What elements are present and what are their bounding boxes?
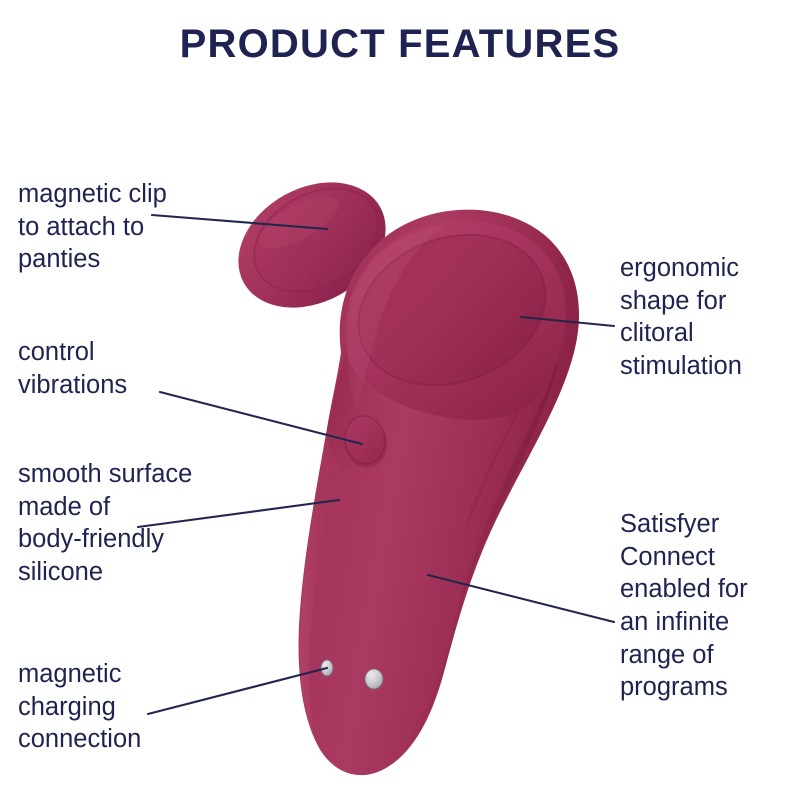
main-body-part xyxy=(299,210,579,776)
callout-label-control-vibrations: control vibrations xyxy=(18,336,127,401)
charging-contact-right xyxy=(365,669,383,689)
callout-label-satisfyer-connect: Satisfyer Connect enabled for an infinit… xyxy=(620,508,748,704)
product-features-infographic: PRODUCT FEATURES xyxy=(0,0,800,800)
callout-label-ergonomic-shape: ergonomic shape for clitoral stimulation xyxy=(620,252,742,383)
callout-label-smooth-surface: smooth surface made of body-friendly sil… xyxy=(18,458,192,589)
callout-label-magnetic-charging: magnetic charging connection xyxy=(18,658,141,756)
leader-line-magnetic-charging xyxy=(148,668,327,714)
callout-label-magnetic-clip: magnetic clip to attach to panties xyxy=(18,178,167,276)
